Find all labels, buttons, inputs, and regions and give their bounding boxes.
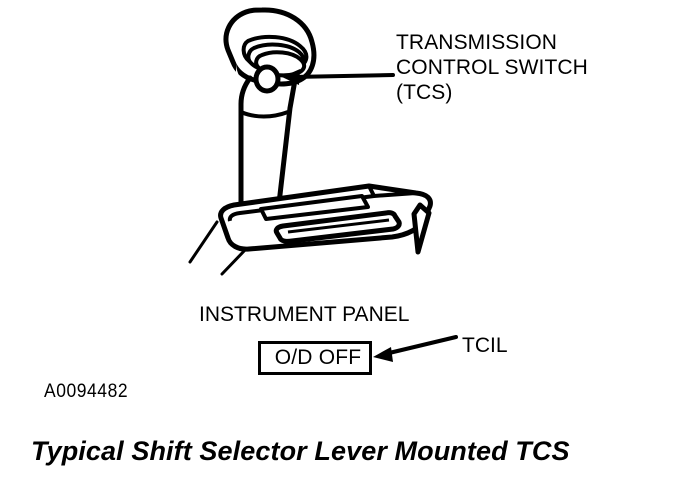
tcs-push-button[interactable] xyxy=(256,67,278,91)
label-instrument-panel: INSTRUMENT PANEL xyxy=(199,303,409,328)
od-off-indicator: O/D OFF xyxy=(258,341,372,375)
callout-tcs-line2: CONTROL SWITCH xyxy=(396,56,588,79)
callout-tcs-line1: TRANSMISSION xyxy=(396,31,557,54)
part-number: A0094482 xyxy=(44,381,128,403)
figure-caption: Typical Shift Selector Lever Mounted TCS xyxy=(31,436,570,468)
console-bezel-plate xyxy=(190,186,430,274)
callout-transmission-control-switch: TRANSMISSION CONTROL SWITCH (TCS) xyxy=(396,31,588,105)
callout-tcil: TCIL xyxy=(462,334,508,359)
od-off-indicator-text: O/D OFF xyxy=(261,344,375,372)
callout-tcs-line3: (TCS) xyxy=(396,81,453,104)
figure-canvas: TRANSMISSION CONTROL SWITCH (TCS) INSTRU… xyxy=(0,0,688,480)
tcil-leader-line xyxy=(373,337,456,362)
tcs-leader-line xyxy=(282,69,393,85)
